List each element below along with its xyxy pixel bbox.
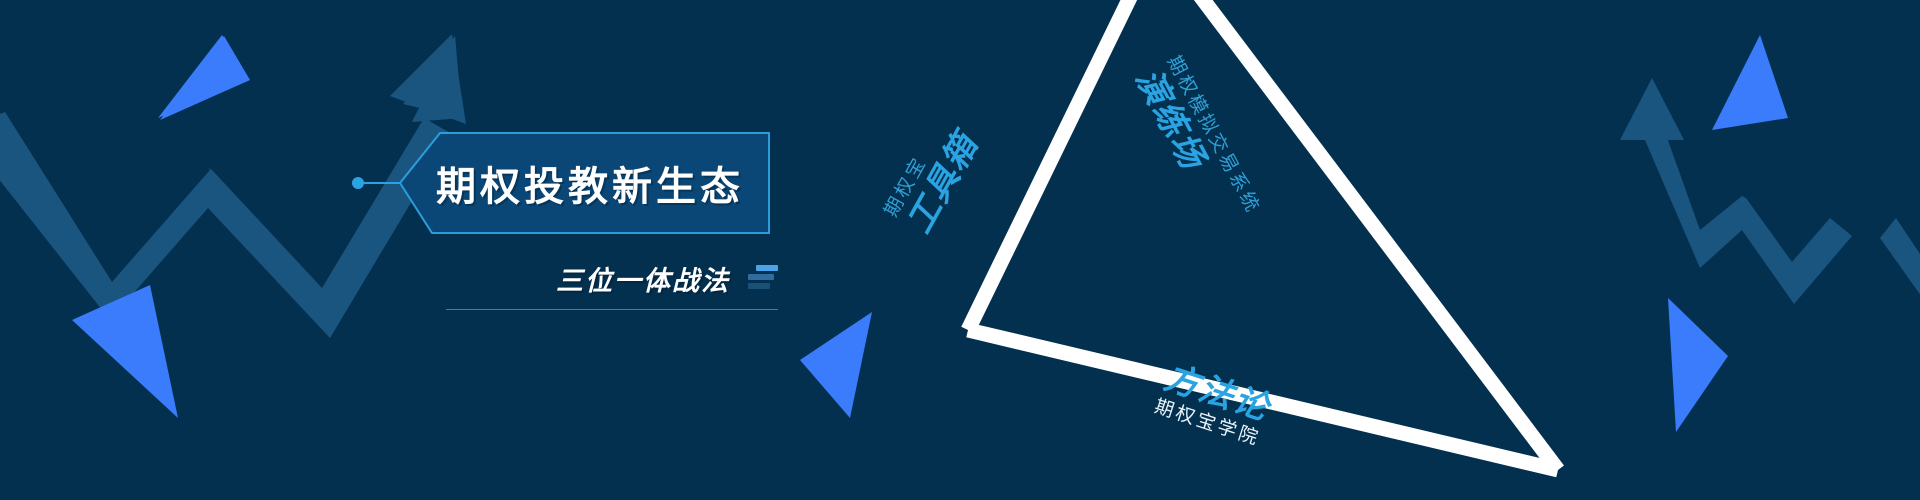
stacked-bar-bottom — [748, 283, 770, 289]
subtitle-text: 三位一体战法 — [556, 259, 730, 298]
triangle-edge-left — [968, 0, 1158, 330]
subtitle-block: 三位一体战法 — [446, 258, 778, 316]
stacked-bar-top — [756, 265, 778, 271]
subtitle-row: 三位一体战法 — [446, 258, 778, 298]
stacked-bar-middle — [748, 274, 774, 280]
title-card: 期权投教新生态 — [392, 132, 770, 234]
page-title: 期权投教新生态 — [392, 132, 770, 234]
strategy-triangle — [0, 0, 1920, 500]
promo-banner: 期权投教新生态 三位一体战法 期权宝 工具箱 期权模拟交易系统 演练场 方法论 … — [0, 0, 1920, 500]
stacked-bars-icon — [744, 265, 778, 291]
subtitle-divider — [446, 309, 778, 310]
